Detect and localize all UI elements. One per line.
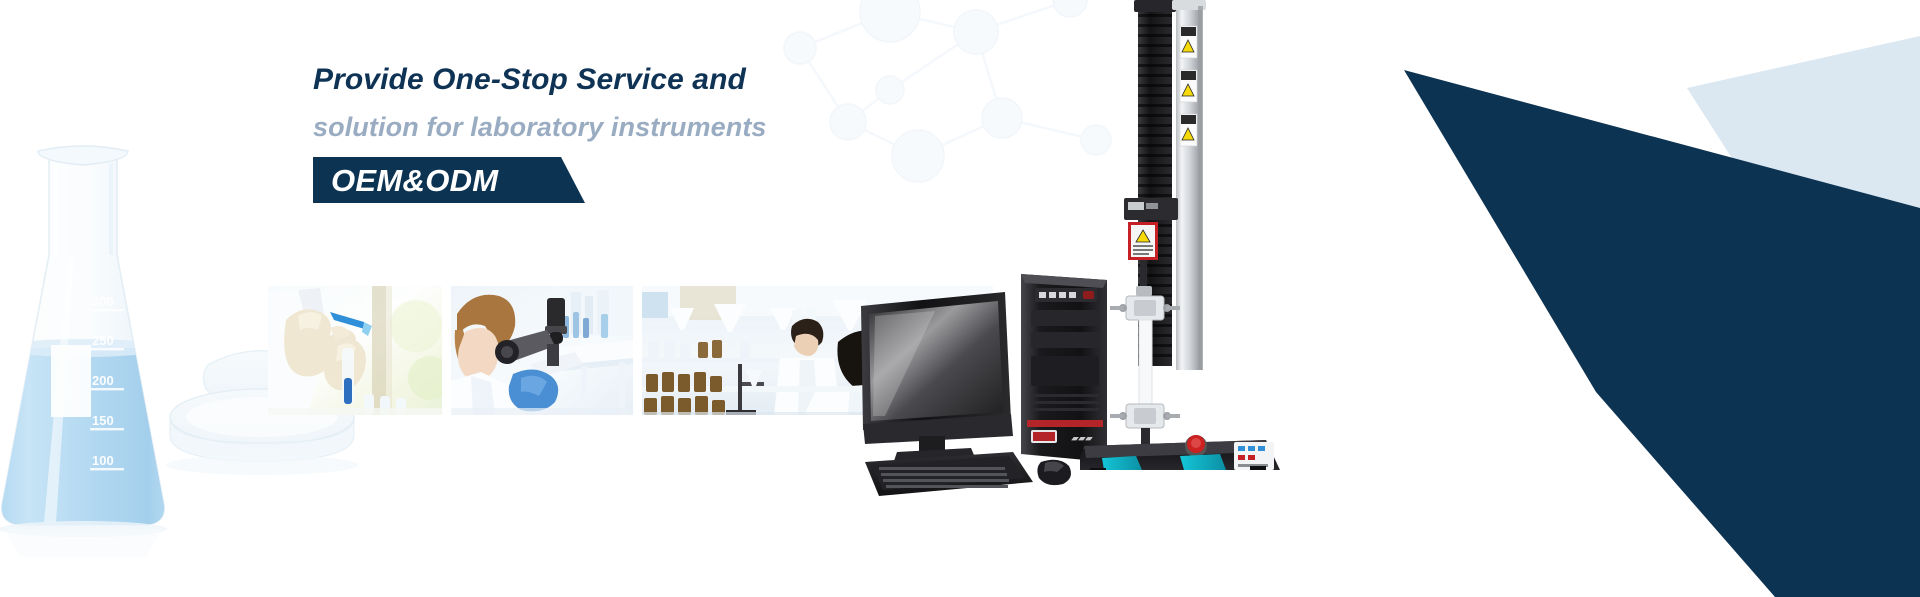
hero-banner: 300 250 200 150 100 Provide One-Stop Ser… [0,0,1920,597]
erlenmeyer-flask: 300 250 200 150 100 [0,146,184,557]
headline-line-1: Provide One-Stop Service and [313,56,933,104]
grad-label-200: 200 [92,373,114,388]
grad-label-150: 150 [92,413,114,428]
lower-grip [1110,404,1180,428]
computer-keyboard [865,452,1033,496]
upper-grip [1110,296,1180,320]
grad-label-250: 250 [92,333,114,348]
photo-scientist-microscope [451,286,633,415]
desktop-pc-tower: ▰▰▰ [1021,274,1107,462]
graduation-marks [90,309,124,470]
navy-arrow-wedge [1404,70,1920,597]
pale-blue-triangle [1687,36,1920,452]
photo-lab-technicians-bench [642,286,993,415]
machine-base [1080,435,1280,470]
computer-mouse [1037,460,1071,485]
warning-hazard-label [1180,26,1197,146]
photo-strip [268,286,993,415]
badge-label: OEM&ODM [331,160,498,202]
grad-label-100: 100 [92,453,114,468]
grad-label-300: 300 [92,294,114,309]
headline-block: Provide One-Stop Service and solution fo… [313,56,933,203]
oem-odm-badge: OEM&ODM [313,157,593,203]
photo-gloved-hands-pipetting [268,286,442,415]
svg-text:▰▰▰: ▰▰▰ [1071,433,1093,443]
universal-tensile-testing-machine [1080,0,1330,470]
right-geometric-decoration [1200,0,1920,597]
headline-line-2: solution for laboratory instruments [313,104,933,150]
